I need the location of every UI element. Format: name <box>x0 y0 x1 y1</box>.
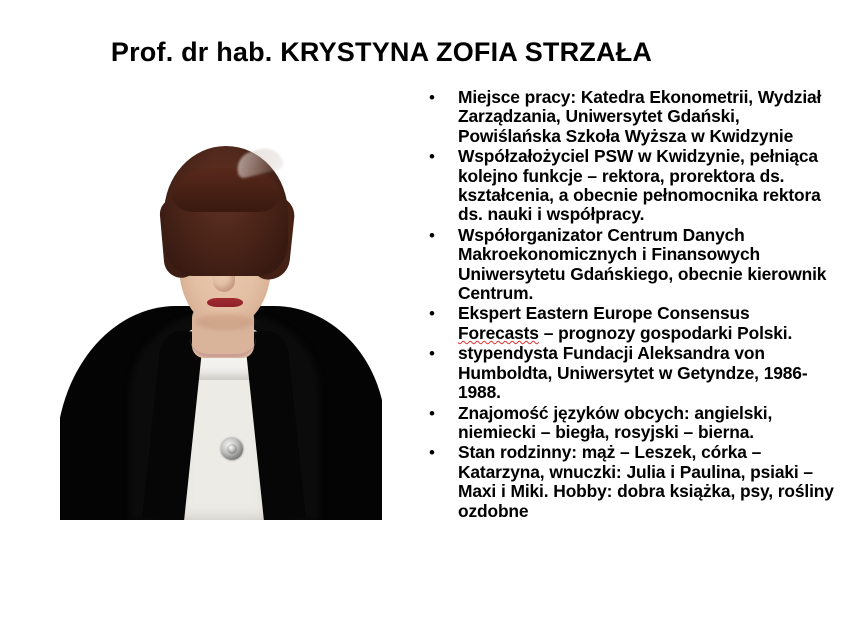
hair-fringe <box>172 168 280 212</box>
list-item: • Współzałożyciel PSW w Kwidzynie, pełni… <box>420 147 835 225</box>
chin-shadow <box>196 314 254 330</box>
list-item-text: Współorganizator Centrum Danych Makroeko… <box>458 226 835 304</box>
list-item-text-after: – prognozy gospodarki Polski. <box>539 323 792 343</box>
spellcheck-flagged-word: Forecasts <box>458 323 539 343</box>
bullet-dot-icon: • <box>420 304 458 323</box>
list-item: • stypendysta Fundacji Aleksandra von Hu… <box>420 344 835 402</box>
list-item-text: Współzałożyciel PSW w Kwidzynie, pełniąc… <box>458 147 835 225</box>
bullet-dot-icon: • <box>420 404 458 423</box>
list-item-text: Miejsce pracy: Katedra Ekonometrii, Wydz… <box>458 88 835 146</box>
portrait-photo <box>60 138 382 520</box>
list-item: • Współorganizator Centrum Danych Makroe… <box>420 226 835 304</box>
mouth <box>207 298 243 307</box>
bullet-dot-icon: • <box>420 88 458 107</box>
bullet-dot-icon: • <box>420 226 458 245</box>
bullet-dot-icon: • <box>420 443 458 462</box>
list-item: • Miejsce pracy: Katedra Ekonometrii, Wy… <box>420 88 835 146</box>
brooch <box>221 438 243 460</box>
list-item-text: stypendysta Fundacji Aleksandra von Humb… <box>458 344 835 402</box>
list-item: • Znajomość języków obcych: angielski, n… <box>420 404 835 443</box>
biography-bullet-list: • Miejsce pracy: Katedra Ekonometrii, Wy… <box>420 88 835 522</box>
list-item: • Stan rodzinny: mąż – Leszek, córka – K… <box>420 443 835 521</box>
necklace <box>190 338 256 357</box>
bullet-dot-icon: • <box>420 344 458 363</box>
page-title: Prof. dr hab. KRYSTYNA ZOFIA STRZAŁA <box>0 36 843 68</box>
bullet-dot-icon: • <box>420 147 458 166</box>
list-item-text: Znajomość języków obcych: angielski, nie… <box>458 404 835 443</box>
list-item-text-before: Ekspert Eastern Europe Consensus <box>458 303 750 323</box>
presentation-slide: Prof. dr hab. KRYSTYNA ZOFIA STRZAŁA <box>0 0 843 631</box>
list-item: • Ekspert Eastern Europe Consensus Forec… <box>420 304 835 343</box>
list-item-text: Stan rodzinny: mąż – Leszek, córka – Kat… <box>458 443 835 521</box>
portrait-canvas <box>60 138 382 520</box>
list-item-text: Ekspert Eastern Europe Consensus Forecas… <box>458 304 835 343</box>
